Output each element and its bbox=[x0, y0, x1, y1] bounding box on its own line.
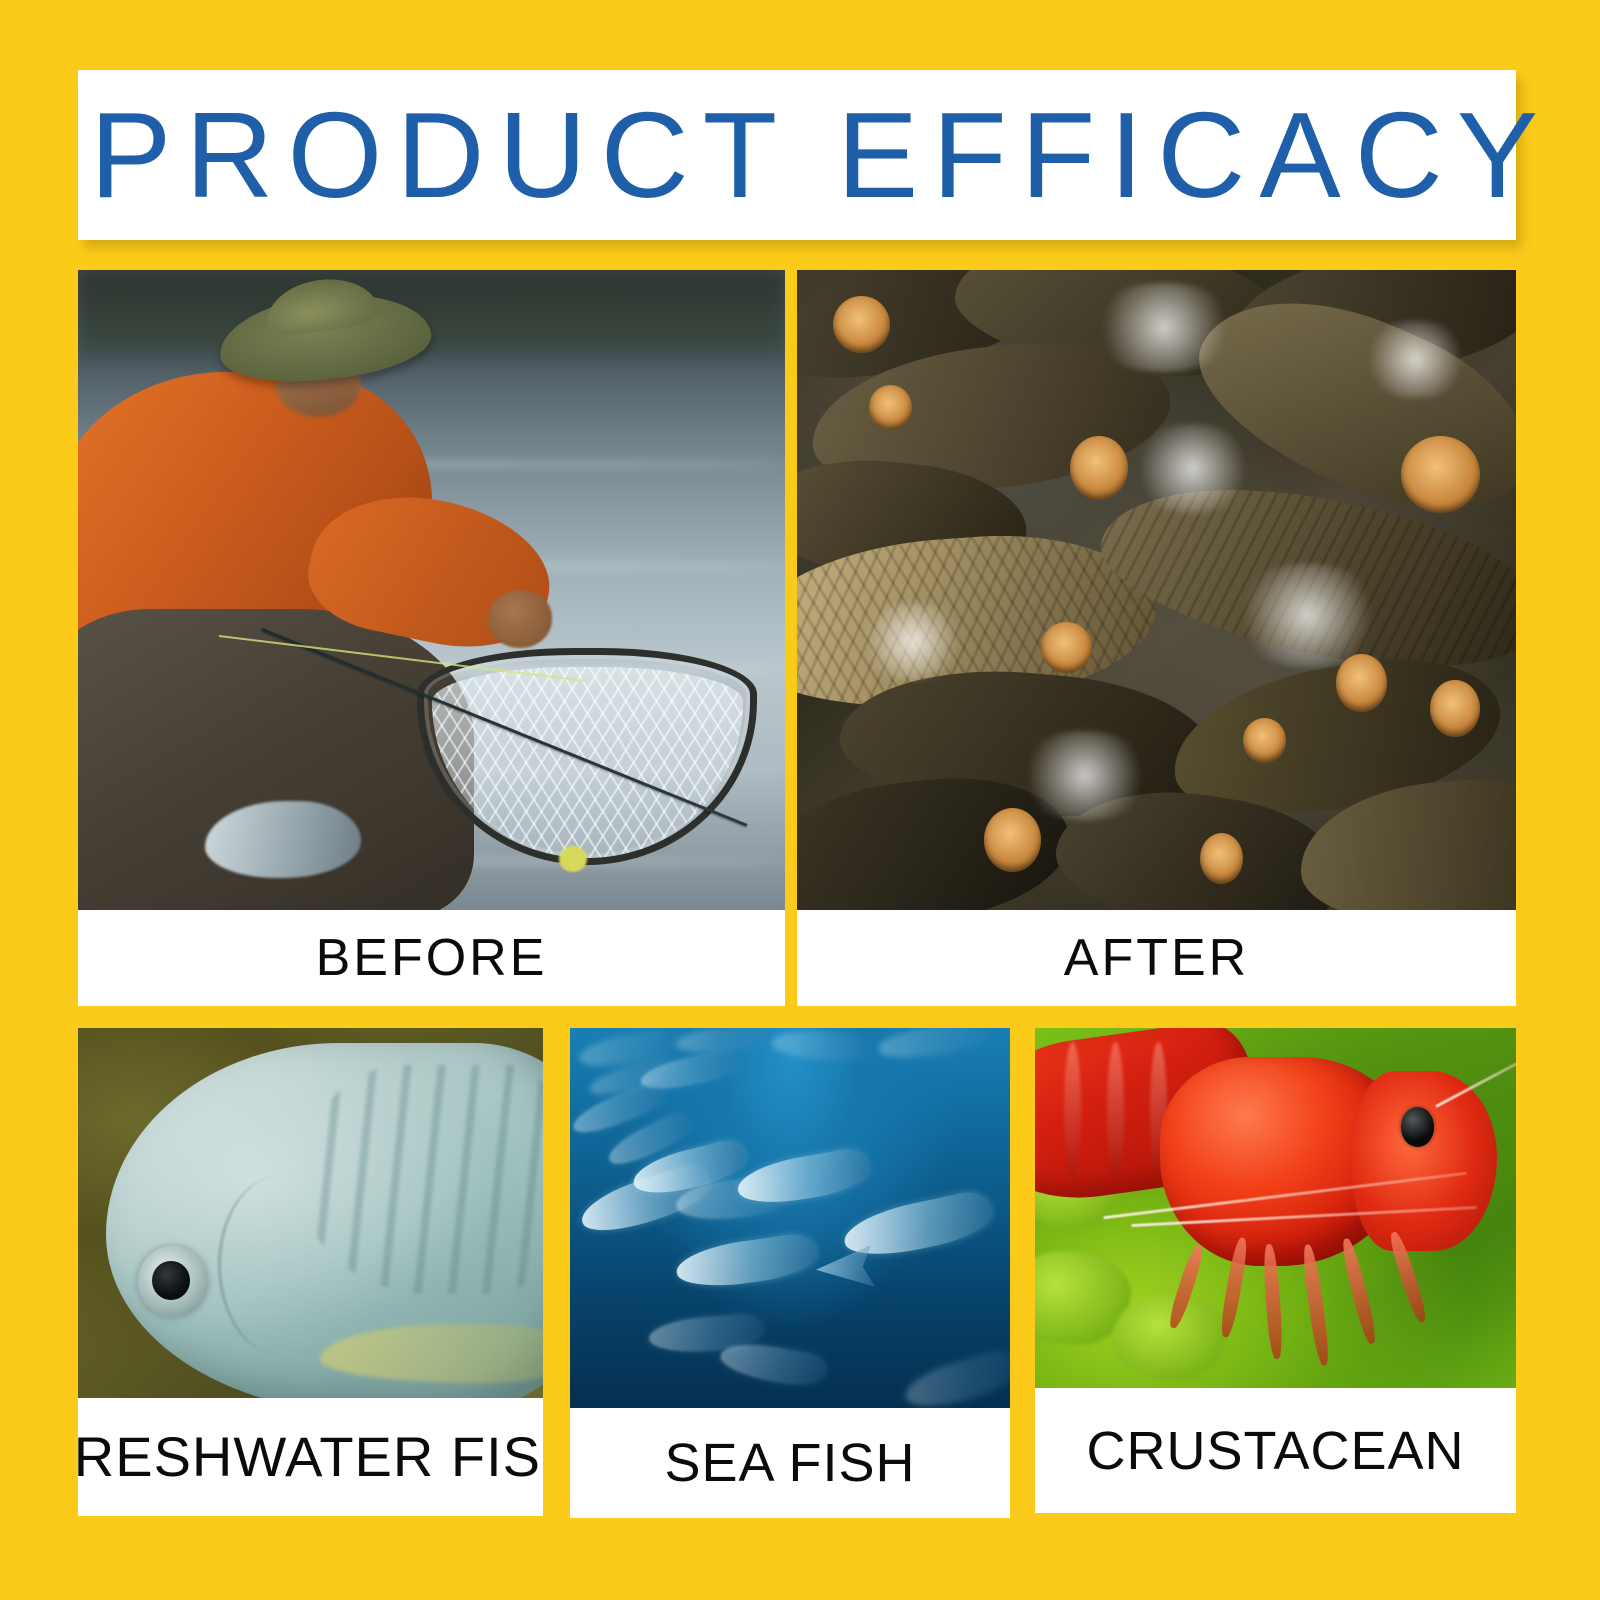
carp-mouth bbox=[1401, 436, 1480, 513]
carp-mouth bbox=[1200, 833, 1243, 884]
photo-crustacean bbox=[1035, 1028, 1516, 1388]
fish-eye-pupil bbox=[152, 1261, 189, 1300]
carp-mouth bbox=[1243, 718, 1286, 763]
page-title: PRODUCT EFFICACY bbox=[78, 94, 1516, 216]
caption-bar-after: AFTER bbox=[797, 910, 1516, 1006]
fish-flank-markings bbox=[301, 1065, 543, 1294]
shrimp-eye bbox=[1401, 1107, 1435, 1147]
angler-hand bbox=[488, 590, 552, 648]
panel-before: BEFORE bbox=[78, 270, 785, 1006]
photo-before bbox=[78, 270, 785, 910]
water-foam bbox=[1228, 564, 1386, 666]
panel-crustacean: CRUSTACEAN bbox=[1035, 1028, 1516, 1513]
caption-freshwater-fish: FRESHWATER FISH bbox=[78, 1429, 543, 1485]
carp-mouth bbox=[1430, 680, 1480, 738]
photo-freshwater-fish bbox=[78, 1028, 543, 1398]
carp-mouth bbox=[869, 385, 912, 430]
aquatic-plant-leaf bbox=[1112, 1294, 1227, 1380]
caption-before: BEFORE bbox=[316, 932, 548, 984]
blurred-treeline bbox=[78, 270, 785, 353]
shrimp-head bbox=[1352, 1071, 1496, 1251]
caption-bar-crustacean: CRUSTACEAN bbox=[1035, 1388, 1516, 1513]
caption-crustacean: CRUSTACEAN bbox=[1086, 1424, 1464, 1478]
photo-after bbox=[797, 270, 1516, 910]
shrimp-segment bbox=[1107, 1042, 1124, 1179]
water-foam bbox=[1128, 424, 1257, 514]
shrimp-segment bbox=[1064, 1042, 1081, 1179]
caption-bar-before: BEFORE bbox=[78, 910, 785, 1006]
panel-sea-fish: SEA FISH bbox=[570, 1028, 1010, 1518]
caption-after: AFTER bbox=[1064, 932, 1249, 984]
carp-mouth bbox=[984, 808, 1042, 872]
panel-after: AFTER bbox=[797, 270, 1516, 1006]
caption-bar-sea-fish: SEA FISH bbox=[570, 1408, 1010, 1518]
carp-mouth bbox=[1041, 622, 1091, 673]
title-banner: PRODUCT EFFICACY bbox=[78, 70, 1516, 240]
water-foam bbox=[1013, 731, 1157, 821]
caption-bar-freshwater: FRESHWATER FISH bbox=[78, 1398, 543, 1516]
lure bbox=[559, 846, 587, 872]
caption-sea-fish: SEA FISH bbox=[664, 1436, 915, 1490]
water-foam bbox=[1085, 283, 1243, 373]
photo-sea-fish bbox=[570, 1028, 1010, 1408]
water-foam bbox=[855, 603, 970, 680]
carp-mouth bbox=[1336, 654, 1386, 712]
water-foam bbox=[1358, 321, 1473, 398]
panel-freshwater-fish: FRESHWATER FISH bbox=[78, 1028, 543, 1516]
carp-mouth bbox=[1070, 436, 1128, 500]
